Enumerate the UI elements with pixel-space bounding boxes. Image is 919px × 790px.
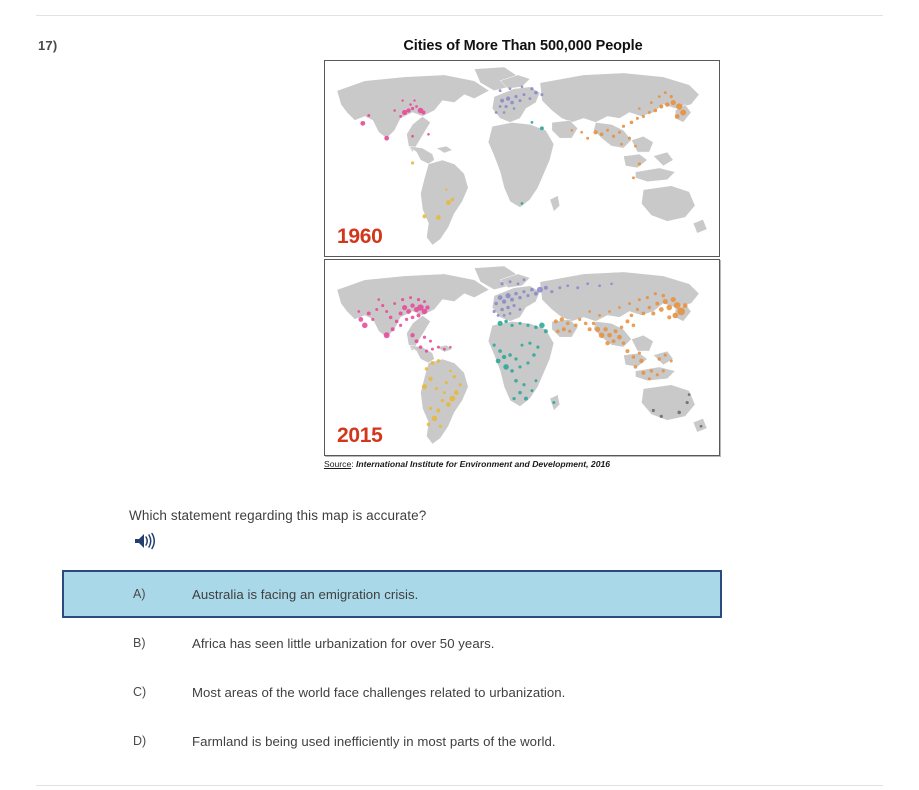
world-map-1960 (325, 61, 719, 256)
answer-letter-b: B) (133, 636, 146, 650)
answer-options: A) Australia is facing an emigration cri… (62, 570, 722, 765)
answer-letter-a: A) (133, 587, 146, 601)
figure-source: Source: International Institute for Envi… (324, 459, 722, 469)
answer-text-a: Australia is facing an emigration crisis… (192, 587, 418, 602)
page-divider-top (36, 15, 883, 16)
answer-option-b[interactable]: B) Africa has seen little urbanization f… (62, 619, 722, 667)
source-citation: International Institute for Environment … (356, 459, 610, 469)
year-label-1960: 1960 (337, 225, 383, 249)
answer-letter-c: C) (133, 685, 146, 699)
figure-title: Cities of More Than 500,000 People (324, 38, 722, 54)
figure-block: Cities of More Than 500,000 People (324, 38, 722, 469)
answer-option-c[interactable]: C) Most areas of the world face challeng… (62, 668, 722, 716)
answer-text-b: Africa has seen little urbanization for … (192, 636, 495, 651)
world-map-2015 (325, 260, 719, 455)
speaker-icon[interactable] (133, 531, 159, 551)
answer-option-d[interactable]: D) Farmland is being used inefficiently … (62, 717, 722, 765)
map-panel-2015: 2015 (324, 259, 720, 456)
answer-letter-d: D) (133, 734, 146, 748)
year-label-2015: 2015 (337, 424, 383, 448)
answer-option-a[interactable]: A) Australia is facing an emigration cri… (62, 570, 722, 618)
question-number: 17) (38, 38, 57, 53)
page-divider-bottom (36, 785, 883, 786)
question-stem: Which statement regarding this map is ac… (129, 508, 426, 523)
answer-text-c: Most areas of the world face challenges … (192, 685, 565, 700)
source-label: Source (324, 459, 351, 469)
answer-text-d: Farmland is being used inefficiently in … (192, 734, 556, 749)
speaker-icon-glyph (133, 531, 159, 551)
map-panel-1960: 1960 (324, 60, 720, 257)
